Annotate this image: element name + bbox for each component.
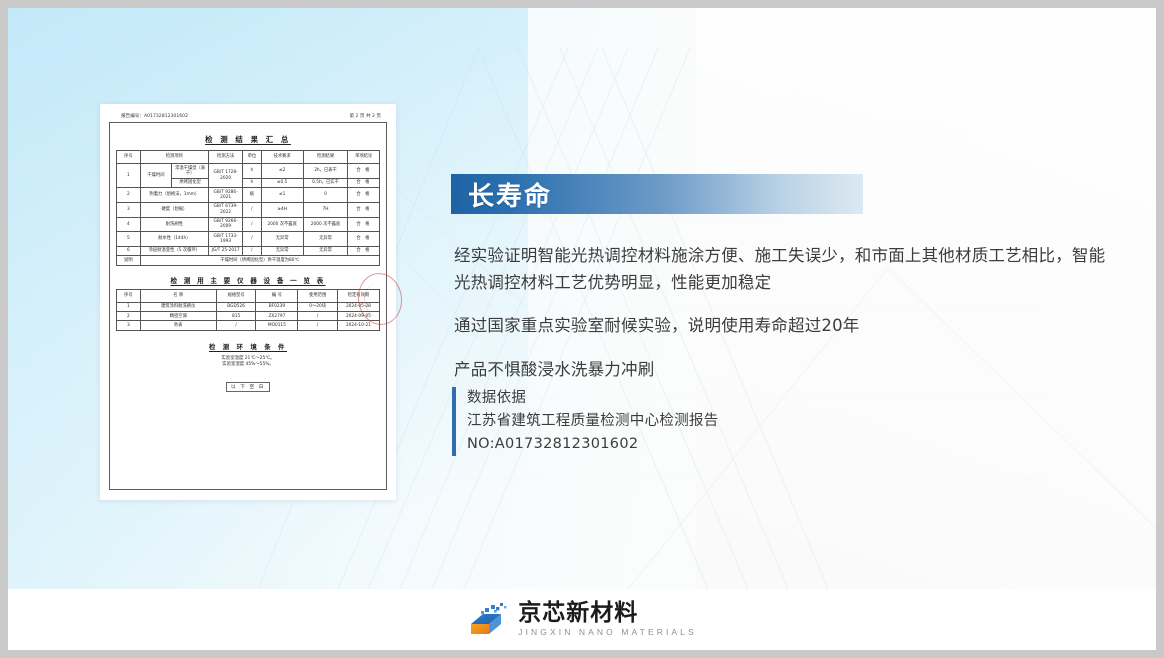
cell-result: 无异常: [303, 246, 348, 255]
cell-result: 7H: [303, 202, 348, 217]
eq-cell-name: 建筑涂料耐洗刷仪: [140, 302, 216, 311]
cell-requirement: 无异常: [261, 232, 303, 247]
report-number: 报告编号：A01732812301602: [121, 113, 188, 119]
page-title: 长寿命: [451, 176, 552, 213]
eq-col-model: 规格型号: [216, 289, 255, 302]
cell-item-main: 干燥时间: [140, 164, 172, 188]
eq-cell-no: 2: [117, 312, 141, 321]
eq-col-valid: 检定有效期: [337, 289, 379, 302]
citation-number: NO:A01732812301602: [467, 433, 719, 456]
cell-requirement: ≤0.5: [261, 178, 303, 187]
cell-result: 0: [303, 188, 348, 203]
cell-no: 3: [117, 202, 141, 217]
cell-requirement: ≤1: [261, 188, 303, 203]
eq-cell-range: /: [298, 321, 337, 330]
cell-unit: /: [243, 217, 261, 232]
cell-item-sub: 常温干燥型（表干）: [172, 164, 209, 179]
cell-result: 0.5h，已实干: [303, 178, 348, 187]
cell-conclusion: 合 格: [348, 178, 380, 187]
cell-conclusion: 合 格: [348, 232, 380, 247]
table-row: 5 耐水性（144h） GB/T 1733-1993 / 无异常 无异常 合 格: [117, 232, 380, 247]
citation-source: 江苏省建筑工程质量检测中心检测报告: [467, 410, 719, 433]
eq-cell-model: 815: [216, 312, 255, 321]
equipment-table: 序号 名 称 规格型号 编 号 使用范围 检定有效期 1 建筑涂料耐洗刷仪 BG…: [116, 289, 380, 331]
paragraph-1: 经实验证明智能光热调控材料施涂方便、施工失误少，和市面上其他材质工艺相比，智能光…: [454, 243, 1114, 296]
environment-humidity: 实验室湿度 45%～55%。: [116, 362, 380, 369]
note-label: 说明: [117, 256, 141, 265]
eq-cell-valid: 2024-05-28: [337, 302, 379, 311]
equipment-title: 检 测 用 主 要 仪 器 设 备 一 览 表: [116, 275, 380, 285]
test-report-document[interactable]: 报告编号：A01732812301602 第 2 页 共 2 页 检 测 结 果…: [100, 104, 396, 500]
cell-item-main: 涂层耐温变性（5 次循环）: [140, 246, 208, 255]
cell-result: 2h，已表干: [303, 164, 348, 179]
cell-conclusion: 合 格: [348, 246, 380, 255]
eq-cell-no: 1: [117, 302, 141, 311]
eq-cell-serial: MO0115: [256, 321, 298, 330]
cell-item-main: 硬度（划痕）: [140, 202, 208, 217]
brand-name-cn: 京芯新材料: [518, 602, 697, 625]
col-requirement: 技术要求: [261, 151, 303, 164]
footer-bar: 京芯新材料 JINGXIN NANO MATERIALS: [8, 589, 1156, 650]
equipment-header-row: 序号 名 称 规格型号 编 号 使用范围 检定有效期: [117, 289, 380, 302]
table-row: 6 涂层耐温变性（5 次循环） JG/T 25-2017 / 无异常 无异常 合…: [117, 246, 380, 255]
document-frame: 检 测 结 果 汇 总 序号 检测项目 检测方法 单位 技术要求: [109, 122, 387, 490]
note-text: 干燥时间（烘烤固化型）烘干温度为80℃: [140, 256, 379, 265]
table-row: 1 干燥时间 常温干燥型（表干） GB/T 1728-2020 h ≤2 2h，…: [117, 164, 380, 179]
col-item: 检测项目: [140, 151, 208, 164]
eq-cell-valid: 2024-09-05: [337, 312, 379, 321]
cell-method: GB/T 6739-2022: [209, 202, 243, 217]
table-row: 1 建筑涂料耐洗刷仪 BGD526 BF0239 0～20块 2024-05-2…: [117, 302, 380, 311]
cell-no: 6: [117, 246, 141, 255]
brand-logo[interactable]: 京芯新材料 JINGXIN NANO MATERIALS: [467, 601, 697, 639]
cell-method: JG/T 25-2017: [209, 246, 243, 255]
cell-method: GB/T 1728-2020: [209, 164, 243, 188]
cell-method: GB/T 9266-2009: [209, 217, 243, 232]
cell-unit: /: [243, 232, 261, 247]
cell-conclusion: 合 格: [348, 164, 380, 179]
col-conclusion: 单项结论: [348, 151, 380, 164]
cell-method: GB/T 1733-1993: [209, 232, 243, 247]
document-inner: 报告编号：A01732812301602 第 2 页 共 2 页 检 测 结 果…: [100, 104, 396, 500]
eq-cell-no: 3: [117, 321, 141, 330]
cell-unit: /: [243, 202, 261, 217]
document-title: 检 测 结 果 汇 总: [116, 134, 380, 145]
brand-logo-text: 京芯新材料 JINGXIN NANO MATERIALS: [518, 602, 697, 637]
eq-cell-name: 秒表: [140, 321, 216, 330]
page-number: 第 2 页 共 2 页: [349, 113, 381, 119]
cell-result: 无异常: [303, 232, 348, 247]
eq-cell-model: /: [216, 321, 255, 330]
cell-unit: 级: [243, 188, 261, 203]
paragraph-2: 通过国家重点实验室耐候实验，说明使用寿命超过20年: [454, 313, 1114, 340]
citation-label: 数据依据: [467, 387, 719, 410]
cell-requirement: 无异常: [261, 246, 303, 255]
cell-item-main: 耐洗刷性: [140, 217, 208, 232]
eq-cell-model: BGD526: [216, 302, 255, 311]
cell-requirement: ≥4H: [261, 202, 303, 217]
cell-item-main: 附着力（划格法，1mm）: [140, 188, 208, 203]
eq-cell-range: 0～20块: [298, 302, 337, 311]
environment-title: 检 测 环 境 条 件: [116, 342, 380, 351]
col-unit: 单位: [243, 151, 261, 164]
cell-no: 5: [117, 232, 141, 247]
cell-requirement: 2000 次不露底: [261, 217, 303, 232]
table-row: 4 耐洗刷性 GB/T 9266-2009 / 2000 次不露底 2000 次…: [117, 217, 380, 232]
cell-result: 2000 次不露底: [303, 217, 348, 232]
table-note-row: 说明 干燥时间（烘烤固化型）烘干温度为80℃: [117, 256, 380, 265]
cell-unit: h: [243, 164, 261, 179]
jingxin-logo-icon: [467, 601, 509, 639]
cell-no: 4: [117, 217, 141, 232]
cell-item-main: 耐水性（144h）: [140, 232, 208, 247]
eq-col-serial: 编 号: [256, 289, 298, 302]
eq-col-range: 使用范围: [298, 289, 337, 302]
eq-cell-range: /: [298, 312, 337, 321]
cell-conclusion: 合 格: [348, 217, 380, 232]
cell-unit: h: [243, 178, 261, 187]
section-title-banner: 长寿命: [451, 174, 863, 214]
brand-name-en: JINGXIN NANO MATERIALS: [518, 628, 697, 637]
eq-cell-valid: 2024-10-21: [337, 321, 379, 330]
cell-item-sub: 烘烤固化型: [172, 178, 209, 187]
results-table-header-row: 序号 检测项目 检测方法 单位 技术要求 检测结果 单项结论: [117, 151, 380, 164]
cell-conclusion: 合 格: [348, 188, 380, 203]
cell-no: 2: [117, 188, 141, 203]
slide-canvas: 报告编号：A01732812301602 第 2 页 共 2 页 检 测 结 果…: [8, 8, 1156, 589]
cell-method: GB/T 9286-2021: [209, 188, 243, 203]
citation-block: 数据依据 江苏省建筑工程质量检测中心检测报告 NO:A0173281230160…: [452, 387, 719, 456]
table-row: 3 硬度（划痕） GB/T 6739-2022 / ≥4H 7H 合 格: [117, 202, 380, 217]
blank-below-mark: 以 下 空 白: [226, 382, 270, 392]
screenshot-viewport: 报告编号：A01732812301602 第 2 页 共 2 页 检 测 结 果…: [0, 0, 1164, 658]
paragraph-3: 产品不惧酸浸水洗暴力冲刷: [454, 357, 1114, 384]
eq-cell-name: 精密空调: [140, 312, 216, 321]
eq-col-no: 序号: [117, 289, 141, 302]
col-no: 序号: [117, 151, 141, 164]
results-table: 序号 检测项目 检测方法 单位 技术要求 检测结果 单项结论 1 干燥时间 常温…: [116, 150, 380, 266]
eq-col-name: 名 称: [140, 289, 216, 302]
table-row: 3 秒表 / MO0115 / 2024-10-21: [117, 321, 380, 330]
table-row: 2 精密空调 815 ZX2797 / 2024-09-05: [117, 312, 380, 321]
cell-conclusion: 合 格: [348, 202, 380, 217]
eq-cell-serial: ZX2797: [256, 312, 298, 321]
eq-cell-serial: BF0239: [256, 302, 298, 311]
cell-requirement: ≤2: [261, 164, 303, 179]
table-row: 2 附着力（划格法，1mm） GB/T 9286-2021 级 ≤1 0 合 格: [117, 188, 380, 203]
body-text-block: 经实验证明智能光热调控材料施涂方便、施工失误少，和市面上其他材质工艺相比，智能光…: [454, 243, 1114, 384]
cell-no: 1: [117, 164, 141, 188]
col-result: 检测结果: [303, 151, 348, 164]
document-header: 报告编号：A01732812301602 第 2 页 共 2 页: [109, 112, 387, 122]
col-method: 检测方法: [209, 151, 243, 164]
cell-unit: /: [243, 246, 261, 255]
